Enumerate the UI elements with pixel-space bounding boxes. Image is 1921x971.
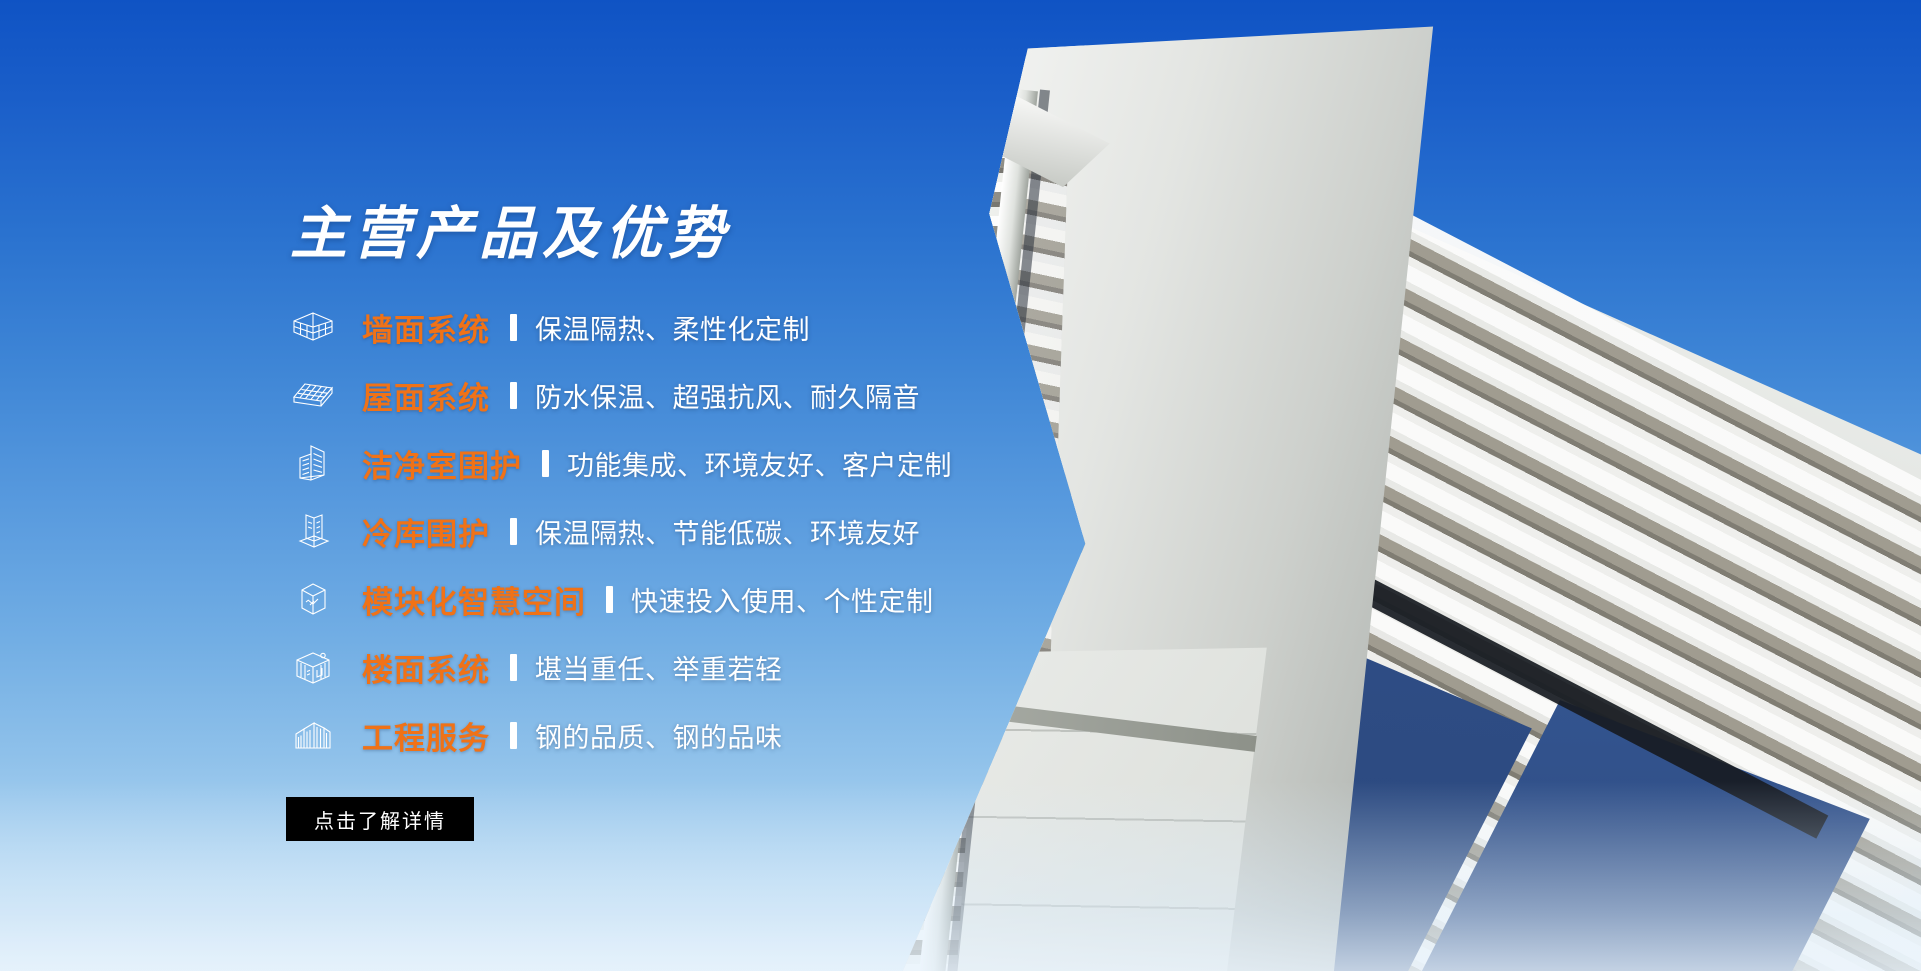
- floor-system-icon: [290, 645, 336, 689]
- product-item-roof-system[interactable]: 屋面系统 防水保温、超强抗风、耐久隔音: [290, 368, 1250, 422]
- page-title: 主营产品及优势: [290, 206, 731, 263]
- hero-banner: 主营产品及优势 墙面系统 保温隔热、柔性化定制: [0, 0, 1921, 971]
- product-separator: [510, 722, 517, 749]
- wall-system-icon: [290, 305, 336, 349]
- product-name: 模块化智慧空间: [362, 577, 586, 622]
- product-item-floor-system[interactable]: 楼面系统 堪当重任、举重若轻: [290, 640, 1250, 694]
- product-item-modular-smart-space[interactable]: 模块化智慧空间 快速投入使用、个性定制: [290, 572, 1250, 626]
- engineering-service-icon: [290, 713, 336, 757]
- product-item-wall-system[interactable]: 墙面系统 保温隔热、柔性化定制: [290, 300, 1250, 354]
- building-blue-panel-2: [1410, 700, 1870, 971]
- product-desc: 钢的品质、钢的品味: [535, 716, 783, 755]
- product-desc: 堪当重任、举重若轻: [535, 648, 783, 687]
- coldstorage-enclosure-icon: [290, 509, 336, 553]
- product-separator: [510, 314, 517, 341]
- product-list: 墙面系统 保温隔热、柔性化定制 屋面系统 防水保温、超强抗风、: [290, 300, 1250, 776]
- modular-smart-space-icon: [290, 577, 336, 621]
- product-item-coldstorage-enclosure[interactable]: 冷库围护 保温隔热、节能低碳、环境友好: [290, 504, 1250, 558]
- product-name: 墙面系统: [362, 305, 490, 350]
- product-desc: 保温隔热、节能低碳、环境友好: [535, 512, 920, 551]
- hero-content: 主营产品及优势 墙面系统 保温隔热、柔性化定制: [290, 0, 1290, 971]
- product-separator: [510, 382, 517, 409]
- product-name: 屋面系统: [362, 373, 490, 418]
- product-name: 冷库围护: [362, 509, 490, 554]
- product-separator: [542, 450, 549, 477]
- product-desc: 快速投入使用、个性定制: [631, 580, 934, 619]
- product-name: 工程服务: [362, 713, 490, 758]
- product-desc: 保温隔热、柔性化定制: [535, 308, 810, 347]
- product-separator: [606, 586, 613, 613]
- product-name: 楼面系统: [362, 645, 490, 690]
- product-name: 洁净室围护: [362, 441, 522, 486]
- product-desc: 功能集成、环境友好、客户定制: [567, 444, 952, 483]
- learn-more-button[interactable]: 点击了解详情: [286, 797, 474, 841]
- product-item-cleanroom-enclosure[interactable]: 洁净室围护 功能集成、环境友好、客户定制: [290, 436, 1250, 490]
- product-separator: [510, 518, 517, 545]
- cleanroom-enclosure-icon: [290, 441, 336, 485]
- product-item-engineering-service[interactable]: 工程服务 钢的品质、钢的品味: [290, 708, 1250, 762]
- product-desc: 防水保温、超强抗风、耐久隔音: [535, 376, 920, 415]
- product-separator: [510, 654, 517, 681]
- roof-system-icon: [290, 373, 336, 417]
